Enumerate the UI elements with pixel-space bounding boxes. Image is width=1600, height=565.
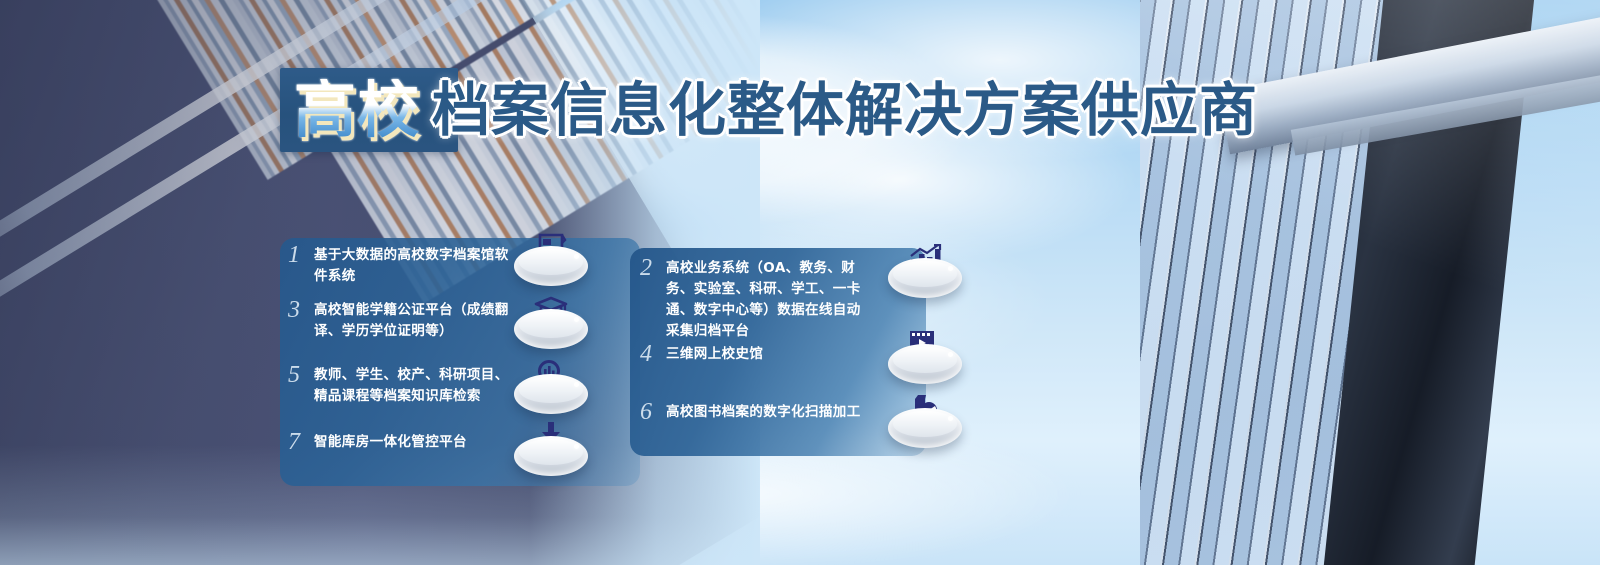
list-item[interactable]: 7 智能库房一体化管控平台 [288,432,516,453]
item-label: 高校图书档案的数字化扫描加工 [666,402,861,423]
pedestal-disc [514,374,588,414]
pedestal-highlight [948,266,953,271]
title-main-text: 档案信息化整体解决方案供应商 [432,81,1258,139]
item-number: 2 [640,258,666,278]
item-number: 5 [288,365,314,385]
item-number: 1 [288,245,314,265]
item-number: 4 [640,344,666,364]
pedestal-disc [888,258,962,298]
list-item[interactable]: 2 高校业务系统（OA、教务、财务、实验室、科研、学工、一卡通、数字中心等）数据… [640,258,872,342]
pedestal-highlight [948,352,953,357]
pedestal-highlight [574,254,579,259]
item-number: 6 [640,402,666,422]
item-label: 高校业务系统（OA、教务、财务、实验室、科研、学工、一卡通、数字中心等）数据在线… [666,258,872,342]
icon-pedestal[interactable] [514,356,588,420]
icon-pedestal[interactable] [888,240,962,304]
pedestal-highlight [948,416,953,421]
pedestal-disc [888,408,962,448]
icon-pedestal[interactable] [888,326,962,390]
pedestal-highlight [574,382,579,387]
list-item[interactable]: 1 基于大数据的高校数字档案馆软件系统 [288,245,510,287]
item-label: 三维网上校史馆 [666,344,763,365]
icon-pedestal[interactable] [514,228,588,292]
icon-pedestal[interactable] [514,418,588,482]
title-highlight-text: 高校 [280,79,426,141]
list-item[interactable]: 5 教师、学生、校产、科研项目、精品课程等档案知识库检索 [288,365,516,407]
pedestal-disc [514,436,588,476]
item-label: 教师、学生、校产、科研项目、精品课程等档案知识库检索 [314,365,516,407]
pedestal-highlight [574,317,579,322]
banner-stage: 高校 档案信息化整体解决方案供应商 1 基于大数据的高校数字档案馆软件系统 3 … [0,0,1600,565]
list-item[interactable]: 4 三维网上校史馆 [640,344,872,365]
item-label: 基于大数据的高校数字档案馆软件系统 [314,245,510,287]
item-number: 3 [288,300,314,320]
list-item[interactable]: 6 高校图书档案的数字化扫描加工 [640,402,872,423]
icon-pedestal[interactable] [514,291,588,355]
pedestal-disc [514,309,588,349]
item-label: 智能库房一体化管控平台 [314,432,467,453]
list-item[interactable]: 3 高校智能学籍公证平台（成绩翻译、学历学位证明等） [288,300,510,342]
pedestal-disc [514,246,588,286]
pedestal-highlight [574,444,579,449]
icon-pedestal[interactable] [888,390,962,454]
pedestal-disc [888,344,962,384]
page-title: 高校 档案信息化整体解决方案供应商 [280,62,1258,158]
item-label: 高校智能学籍公证平台（成绩翻译、学历学位证明等） [314,300,510,342]
item-number: 7 [288,432,314,452]
